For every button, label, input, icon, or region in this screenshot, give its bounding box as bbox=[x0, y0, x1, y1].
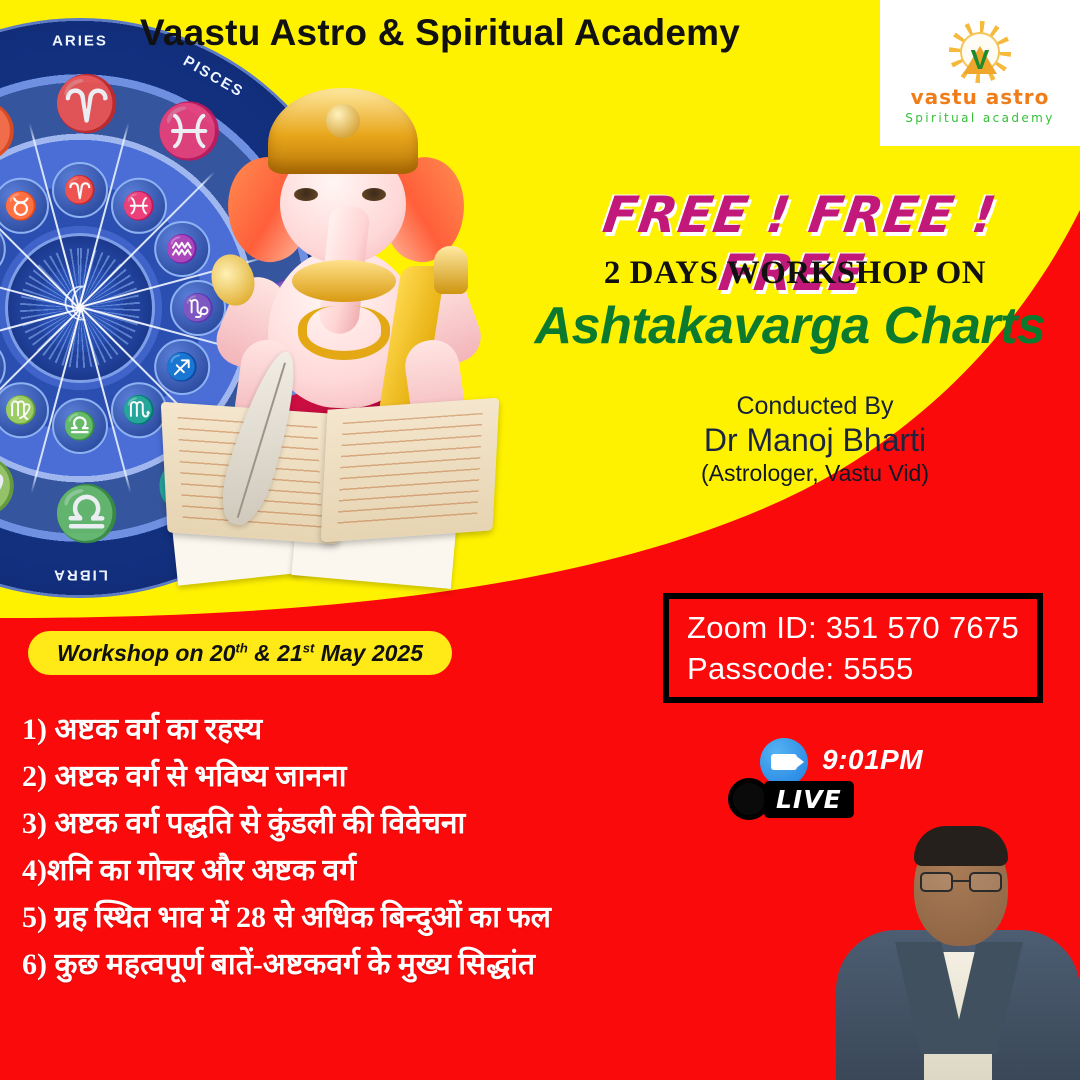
list-item-number: 4) bbox=[22, 854, 47, 887]
broadcast-time: 9:01PM bbox=[822, 744, 923, 776]
page-title: Vaastu Astro & Spiritual Academy bbox=[0, 12, 880, 54]
date-mid: & 21 bbox=[248, 640, 303, 666]
zodiac-symbol-libra: ♎ bbox=[52, 398, 108, 454]
list-item-label: ग्रह स्थित भाव में 28 से अधिक बिन्दुओं क… bbox=[47, 901, 551, 934]
list-item-label: अष्टक वर्ग से भविष्य जानना bbox=[47, 760, 347, 793]
presenter-name: Dr Manoj Bharti bbox=[660, 422, 970, 459]
zodiac-figure-libra: ♎ bbox=[53, 483, 120, 546]
topics-list: 1) अष्टक वर्ग का रहस्य2) अष्टक वर्ग से भ… bbox=[22, 715, 722, 997]
list-item-label: अष्टक वर्ग पद्धति से कुंडली की विवेचना bbox=[47, 807, 465, 840]
academy-logo: V vastu astro Spiritual academy bbox=[880, 0, 1080, 146]
eyeglasses-icon bbox=[920, 872, 1002, 892]
zodiac-symbol-taurus: ♉ bbox=[0, 178, 49, 234]
zodiac-label-libra: LIBRA bbox=[52, 567, 108, 584]
list-item-label: कुछ महत्वपूर्ण बातें-अष्टकवर्ग के मुख्य … bbox=[47, 948, 535, 981]
zodiac-symbol-aries: ♈ bbox=[52, 162, 108, 218]
list-item-number: 1) bbox=[22, 713, 47, 746]
zodiac-figure-taurus: ♉ bbox=[0, 100, 18, 163]
date-sup-1: th bbox=[235, 640, 247, 655]
zodiac-figure-virgo: ♍ bbox=[0, 456, 18, 519]
date-suffix: May 2025 bbox=[314, 640, 423, 666]
logo-brand-name: vastu astro bbox=[911, 85, 1050, 109]
course-title: Ashtakavarga Charts bbox=[500, 296, 1080, 356]
date-prefix: Workshop on 20 bbox=[57, 640, 236, 666]
list-item: 2) अष्टक वर्ग से भविष्य जानना bbox=[22, 762, 722, 792]
list-item: 3) अष्टक वर्ग पद्धति से कुंडली की विवेचन… bbox=[22, 809, 722, 839]
list-item-number: 5) bbox=[22, 901, 47, 934]
workshop-date-text: Workshop on 20th & 21st May 2025 bbox=[57, 640, 423, 667]
list-item-number: 6) bbox=[22, 948, 47, 981]
zoom-passcode-line: Passcode: 5555 bbox=[687, 648, 1019, 689]
list-item-label: अष्टक वर्ग का रहस्य bbox=[47, 713, 262, 746]
open-book-image bbox=[164, 386, 494, 566]
list-item-number: 2) bbox=[22, 760, 47, 793]
zodiac-figure-aries: ♈ bbox=[53, 73, 120, 136]
live-label: LIVE bbox=[776, 785, 842, 814]
yantra-mandala-icon: V bbox=[949, 21, 1011, 83]
poster-canvas: ♈♈ARIES♓♓PISCES♒♒AQUARIUS♑♑CAPRICORN♐♐SA… bbox=[0, 0, 1080, 1080]
live-badge: LIVE bbox=[728, 778, 854, 820]
list-item: 1) अष्टक वर्ग का रहस्य bbox=[22, 715, 722, 745]
list-item-label: शनि का गोचर और अष्टक वर्ग bbox=[47, 854, 356, 887]
list-item: 5) ग्रह स्थित भाव में 28 से अधिक बिन्दुओ… bbox=[22, 903, 722, 933]
workshop-date-badge: Workshop on 20th & 21st May 2025 bbox=[28, 631, 452, 675]
date-sup-2: st bbox=[303, 640, 315, 655]
zodiac-symbol-virgo: ♍ bbox=[0, 382, 49, 438]
zodiac-symbol-scorpio: ♏ bbox=[111, 382, 167, 438]
logo-v-letter: V bbox=[971, 46, 990, 74]
list-item: 6) कुछ महत्वपूर्ण बातें-अष्टकवर्ग के मुख… bbox=[22, 950, 722, 980]
zoom-id-line: Zoom ID: 351 570 7675 bbox=[687, 607, 1019, 648]
workshop-duration-label: 2 DAYS WORKSHOP ON bbox=[540, 255, 1050, 292]
conducted-by-label: Conducted By bbox=[660, 392, 970, 421]
zoom-meeting-box: Zoom ID: 351 570 7675 Passcode: 5555 bbox=[663, 593, 1043, 703]
logo-brand-tagline: Spiritual academy bbox=[905, 111, 1055, 125]
presenter-credentials: (Astrologer, Vastu Vid) bbox=[660, 460, 970, 487]
list-item: 4)शनि का गोचर और अष्टक वर्ग bbox=[22, 856, 722, 886]
presenter-photo bbox=[836, 812, 1080, 1080]
list-item-number: 3) bbox=[22, 807, 47, 840]
